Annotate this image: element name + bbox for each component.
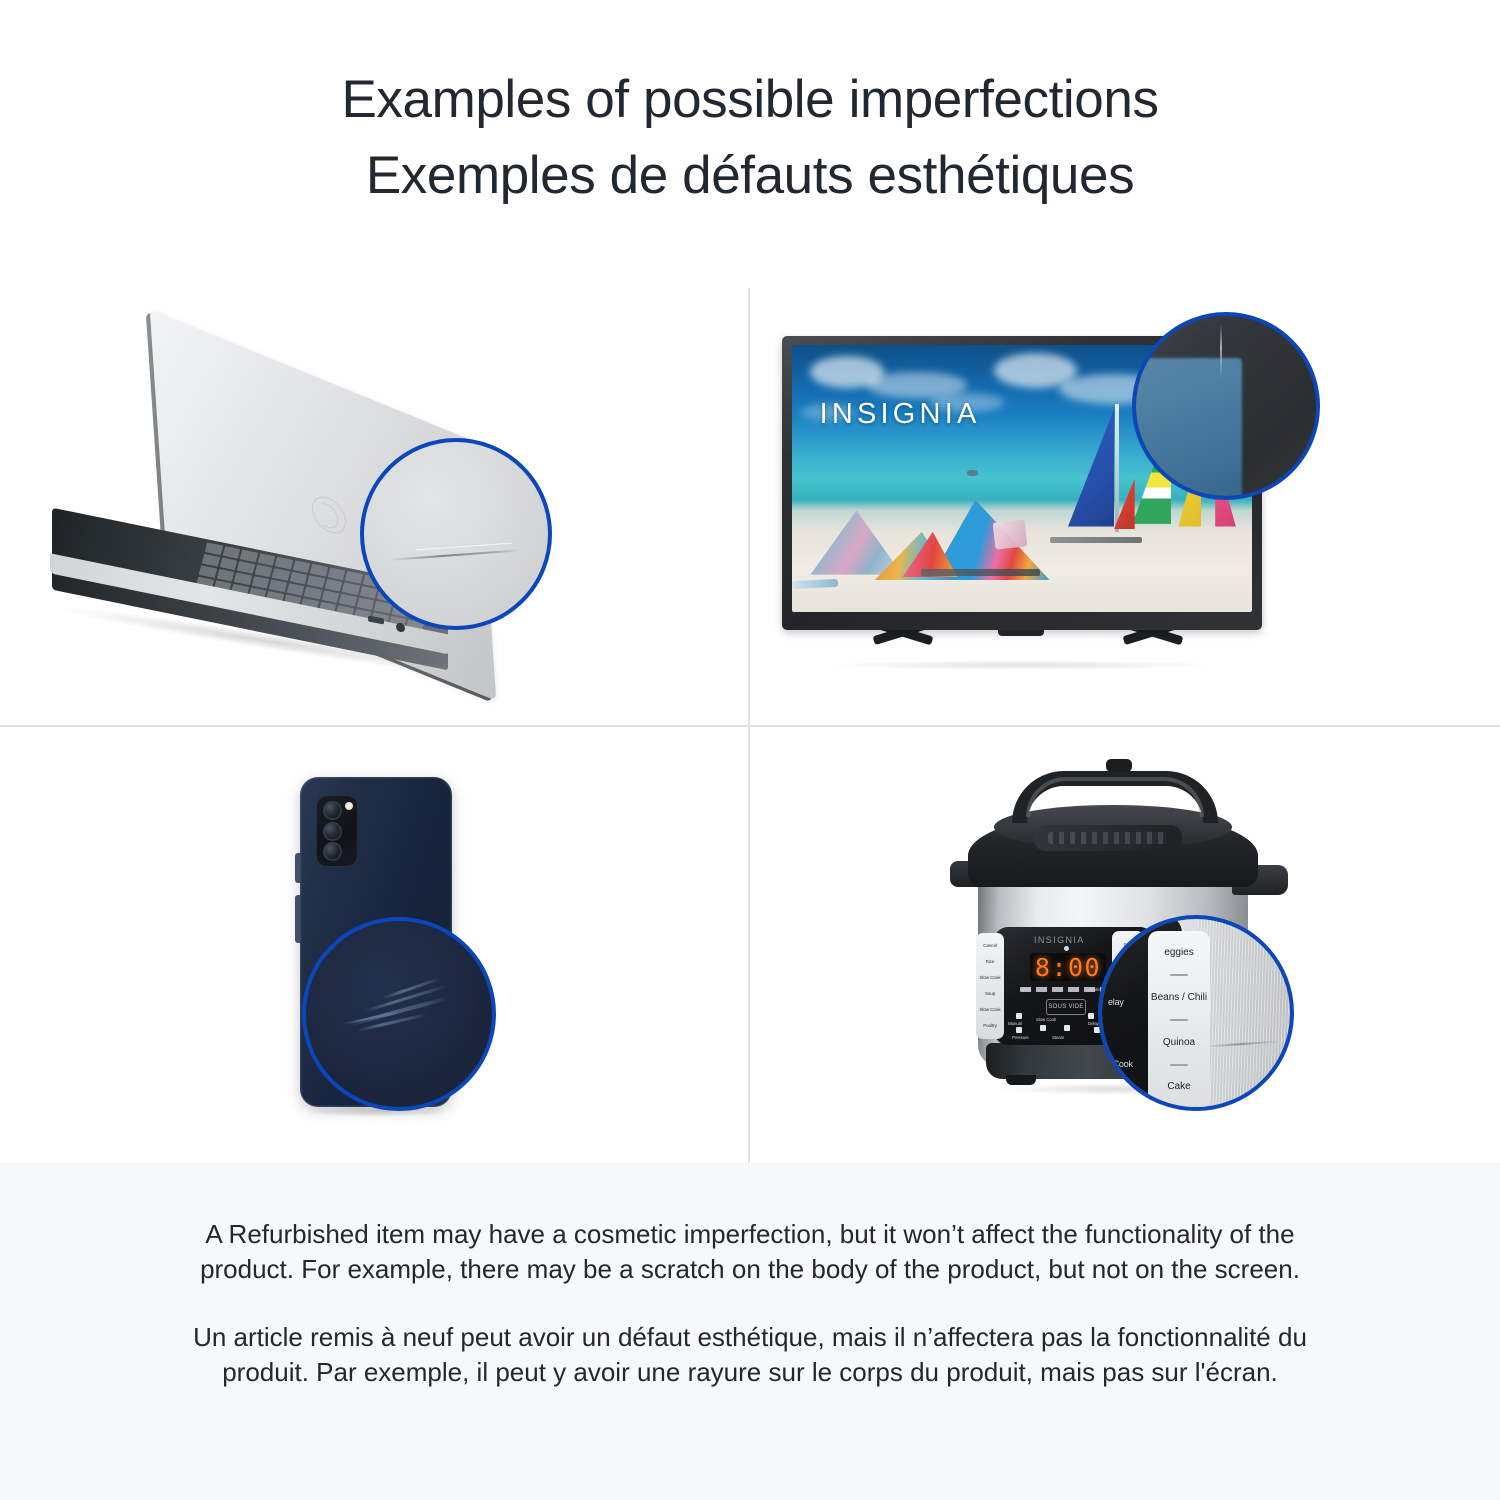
beach-sail-a [810,511,902,575]
title-line-english: Examples of possible imperfections [0,62,1500,138]
phone-volume-button [295,853,300,883]
cooker-inner-label: Delay [1088,1021,1099,1026]
cooker-inner-label: More [1090,987,1100,992]
laptop-scratch-highlight [416,543,512,551]
cooker-handle-highlight [1026,777,1204,817]
cooker-button[interactable]: Cancel [977,943,1003,948]
cooker-button[interactable]: Slow Cook [977,975,1003,980]
distant-boat [967,470,979,475]
example-cell-laptop [0,288,748,725]
cooker-zoom-divider [1170,974,1188,976]
tv-scuff-mark [1220,324,1222,378]
phone-camera-module [316,795,358,867]
cooker-button[interactable]: Soup [977,991,1003,996]
examples-grid: INSIGNIA [0,288,1500,1163]
cooker-status-indicator [1064,946,1069,951]
cooker-button[interactable]: Slow Cook [977,1007,1003,1012]
cooker-inner-label: Manual [1008,1021,1022,1026]
tv-shadow [832,660,1212,670]
disclaimer-french: Un article remis à neuf peut avoir un dé… [176,1320,1324,1390]
cooker-zoom-button-column: eggies Beans / Chili Quinoa Cake [1148,931,1210,1109]
pressure-cooker-illustration: INSIGNIA 8:00 SOUS VIDE Cancel Rice Slow… [950,747,1310,1127]
cooker-zoom-button: Cake [1167,1081,1190,1093]
cooker-lid-vent [1034,825,1182,851]
cooker-led-display: 8:00 [1030,953,1106,981]
cooker-inner-label: Steam [1052,1035,1064,1040]
phone-scratch-mark [357,1013,428,1032]
phone-illustration [242,767,512,1127]
cooker-scratch-magnifier: elay w Cook eggies Beans / Chili Quinoa … [1098,915,1294,1111]
example-cell-phone [0,727,748,1164]
cooker-mini-button[interactable] [1016,1013,1022,1019]
camera-lens-icon [323,801,342,820]
footer-disclaimer: A Refurbished item may have a cosmetic i… [0,1163,1500,1500]
cooker-zoom-button: Beans / Chili [1151,992,1207,1004]
laptop-scratch-magnifier [360,438,552,630]
cooker-inner-label: Delay [1020,987,1031,992]
phone-power-button [295,895,300,943]
cooker-button[interactable]: Rice [977,959,1003,964]
cooker-button[interactable]: Poultry [977,1023,1003,1028]
title-line-french: Exemples de défauts esthétiques [0,138,1500,214]
cooker-brushed-steel-texture [1198,919,1294,1111]
cooker-mode-chip: SOUS VIDE [1046,999,1086,1015]
page-title: Examples of possible imperfections Exemp… [0,62,1500,214]
phone-scratch-magnifier [302,917,496,1111]
cooker-brand-label: INSIGNIA [1034,935,1085,945]
cooker-zoom-button: eggies [1164,947,1193,959]
cooker-inner-label: Pressure [1012,1035,1029,1040]
camera-lens-icon [323,842,342,861]
cooker-zoom-divider [1170,1019,1188,1021]
laptop-scratch-mark [390,549,522,561]
beach-catamaran-hull [921,569,1041,576]
beach-sail-patch [993,520,1028,550]
cooker-mini-button[interactable] [1040,1025,1046,1031]
sailboat-mast [1115,404,1118,532]
tv-screen-logo: INSIGNIA [820,398,981,431]
disclaimer-english: A Refurbished item may have a cosmetic i… [176,1217,1324,1287]
camera-flash-icon [345,802,353,810]
tv-illustration: INSIGNIA [762,316,1282,696]
example-cell-tv: INSIGNIA [750,288,1498,725]
sailboat-hull-far [1050,537,1142,542]
tv-screen-edge-zoomed [1132,358,1242,500]
cooker-mini-button[interactable] [1088,1013,1094,1019]
laptop-illustration [40,380,600,680]
cooker-zoom-side-label: elay [1108,997,1124,1007]
cooker-mini-button[interactable] [1064,1025,1070,1031]
tv-scuff-magnifier [1132,312,1320,500]
example-cell-pressure-cooker: INSIGNIA 8:00 SOUS VIDE Cancel Rice Slow… [750,727,1498,1164]
sailboat-sail-blue [1068,409,1114,526]
cooker-zoom-divider [1170,1064,1188,1066]
camera-lens-icon [323,822,342,841]
cooker-zoom-button: Quinoa [1163,1037,1195,1049]
refurbished-imperfections-infographic: Examples of possible imperfections Exemp… [0,0,1500,1500]
cooker-inner-label: Slow Cook [1036,1017,1056,1022]
cooker-foot-left [1006,1075,1036,1085]
beach-kayak [792,579,838,589]
cooker-zoom-side-label: w Cook [1104,1059,1133,1069]
cooker-button-column-left[interactable]: Cancel Rice Slow Cook Soup Slow Cook Pou… [976,933,1004,1039]
cooker-mini-button[interactable] [1016,1027,1022,1033]
cooker-pressure-valve-icon [1106,759,1132,772]
